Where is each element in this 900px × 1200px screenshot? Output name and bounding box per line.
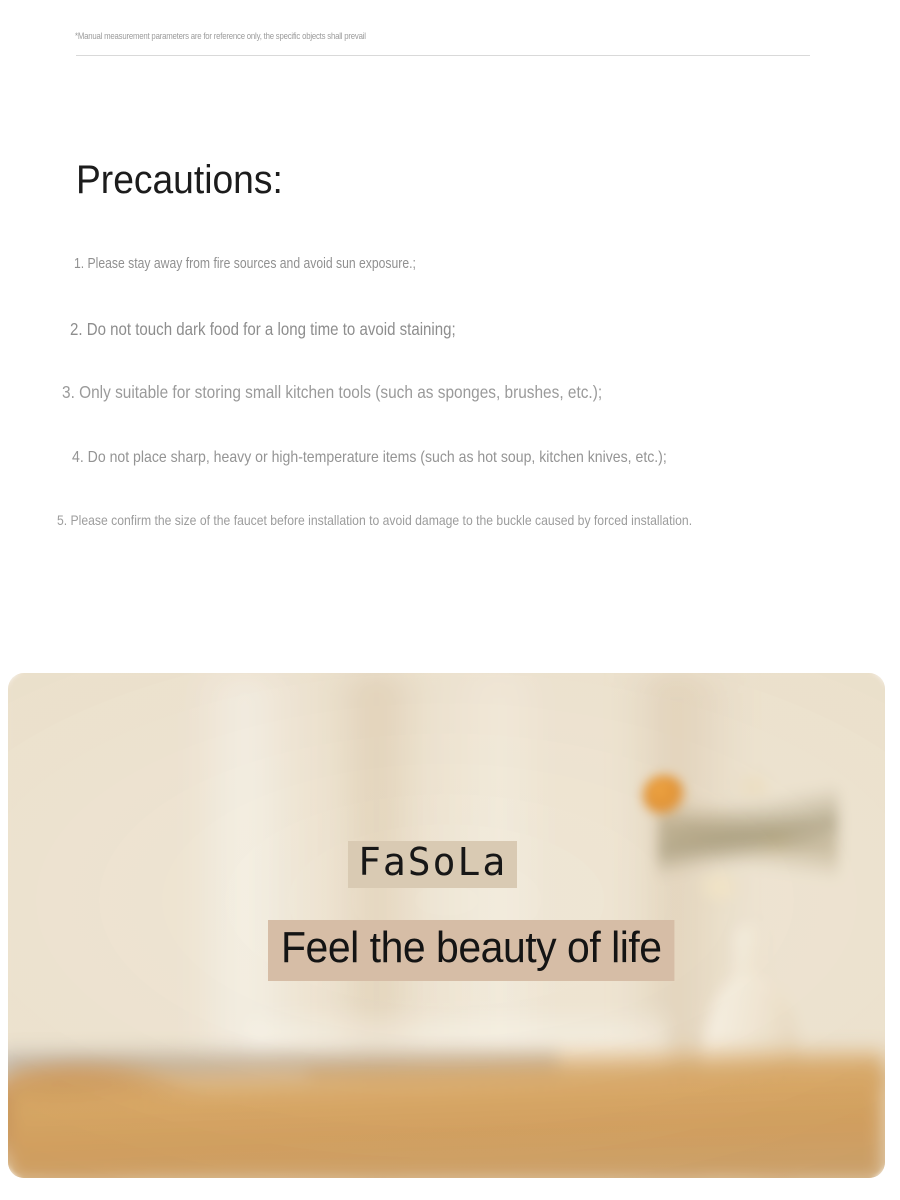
header-divider [76,55,810,56]
precautions-heading: Precautions: [76,158,283,203]
precaution-item-3: 3. Only suitable for storing small kitch… [62,382,602,403]
brand-name-label: FaSoLa [348,841,517,888]
precaution-item-5: 5. Please confirm the size of the faucet… [57,512,692,528]
precaution-item-4: 4. Do not place sharp, heavy or high-tem… [72,449,667,467]
measurement-disclaimer: *Manual measurement parameters are for r… [75,31,366,42]
precaution-item-1: 1. Please stay away from fire sources an… [74,256,416,272]
precaution-item-2: 2. Do not touch dark food for a long tim… [70,319,456,340]
brand-tagline-label: Feel the beauty of life [268,920,675,981]
